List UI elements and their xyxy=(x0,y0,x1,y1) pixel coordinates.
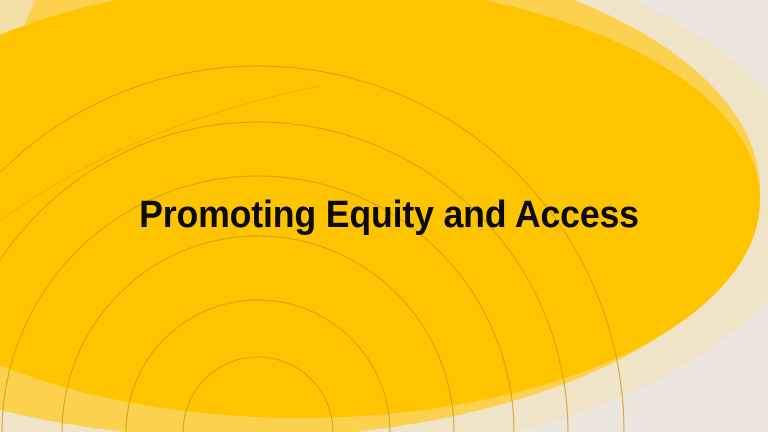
slide-canvas: Promoting Equity and Access xyxy=(0,0,768,432)
title-container: Promoting Equity and Access xyxy=(0,0,768,432)
page-title: Promoting Equity and Access xyxy=(0,196,639,236)
